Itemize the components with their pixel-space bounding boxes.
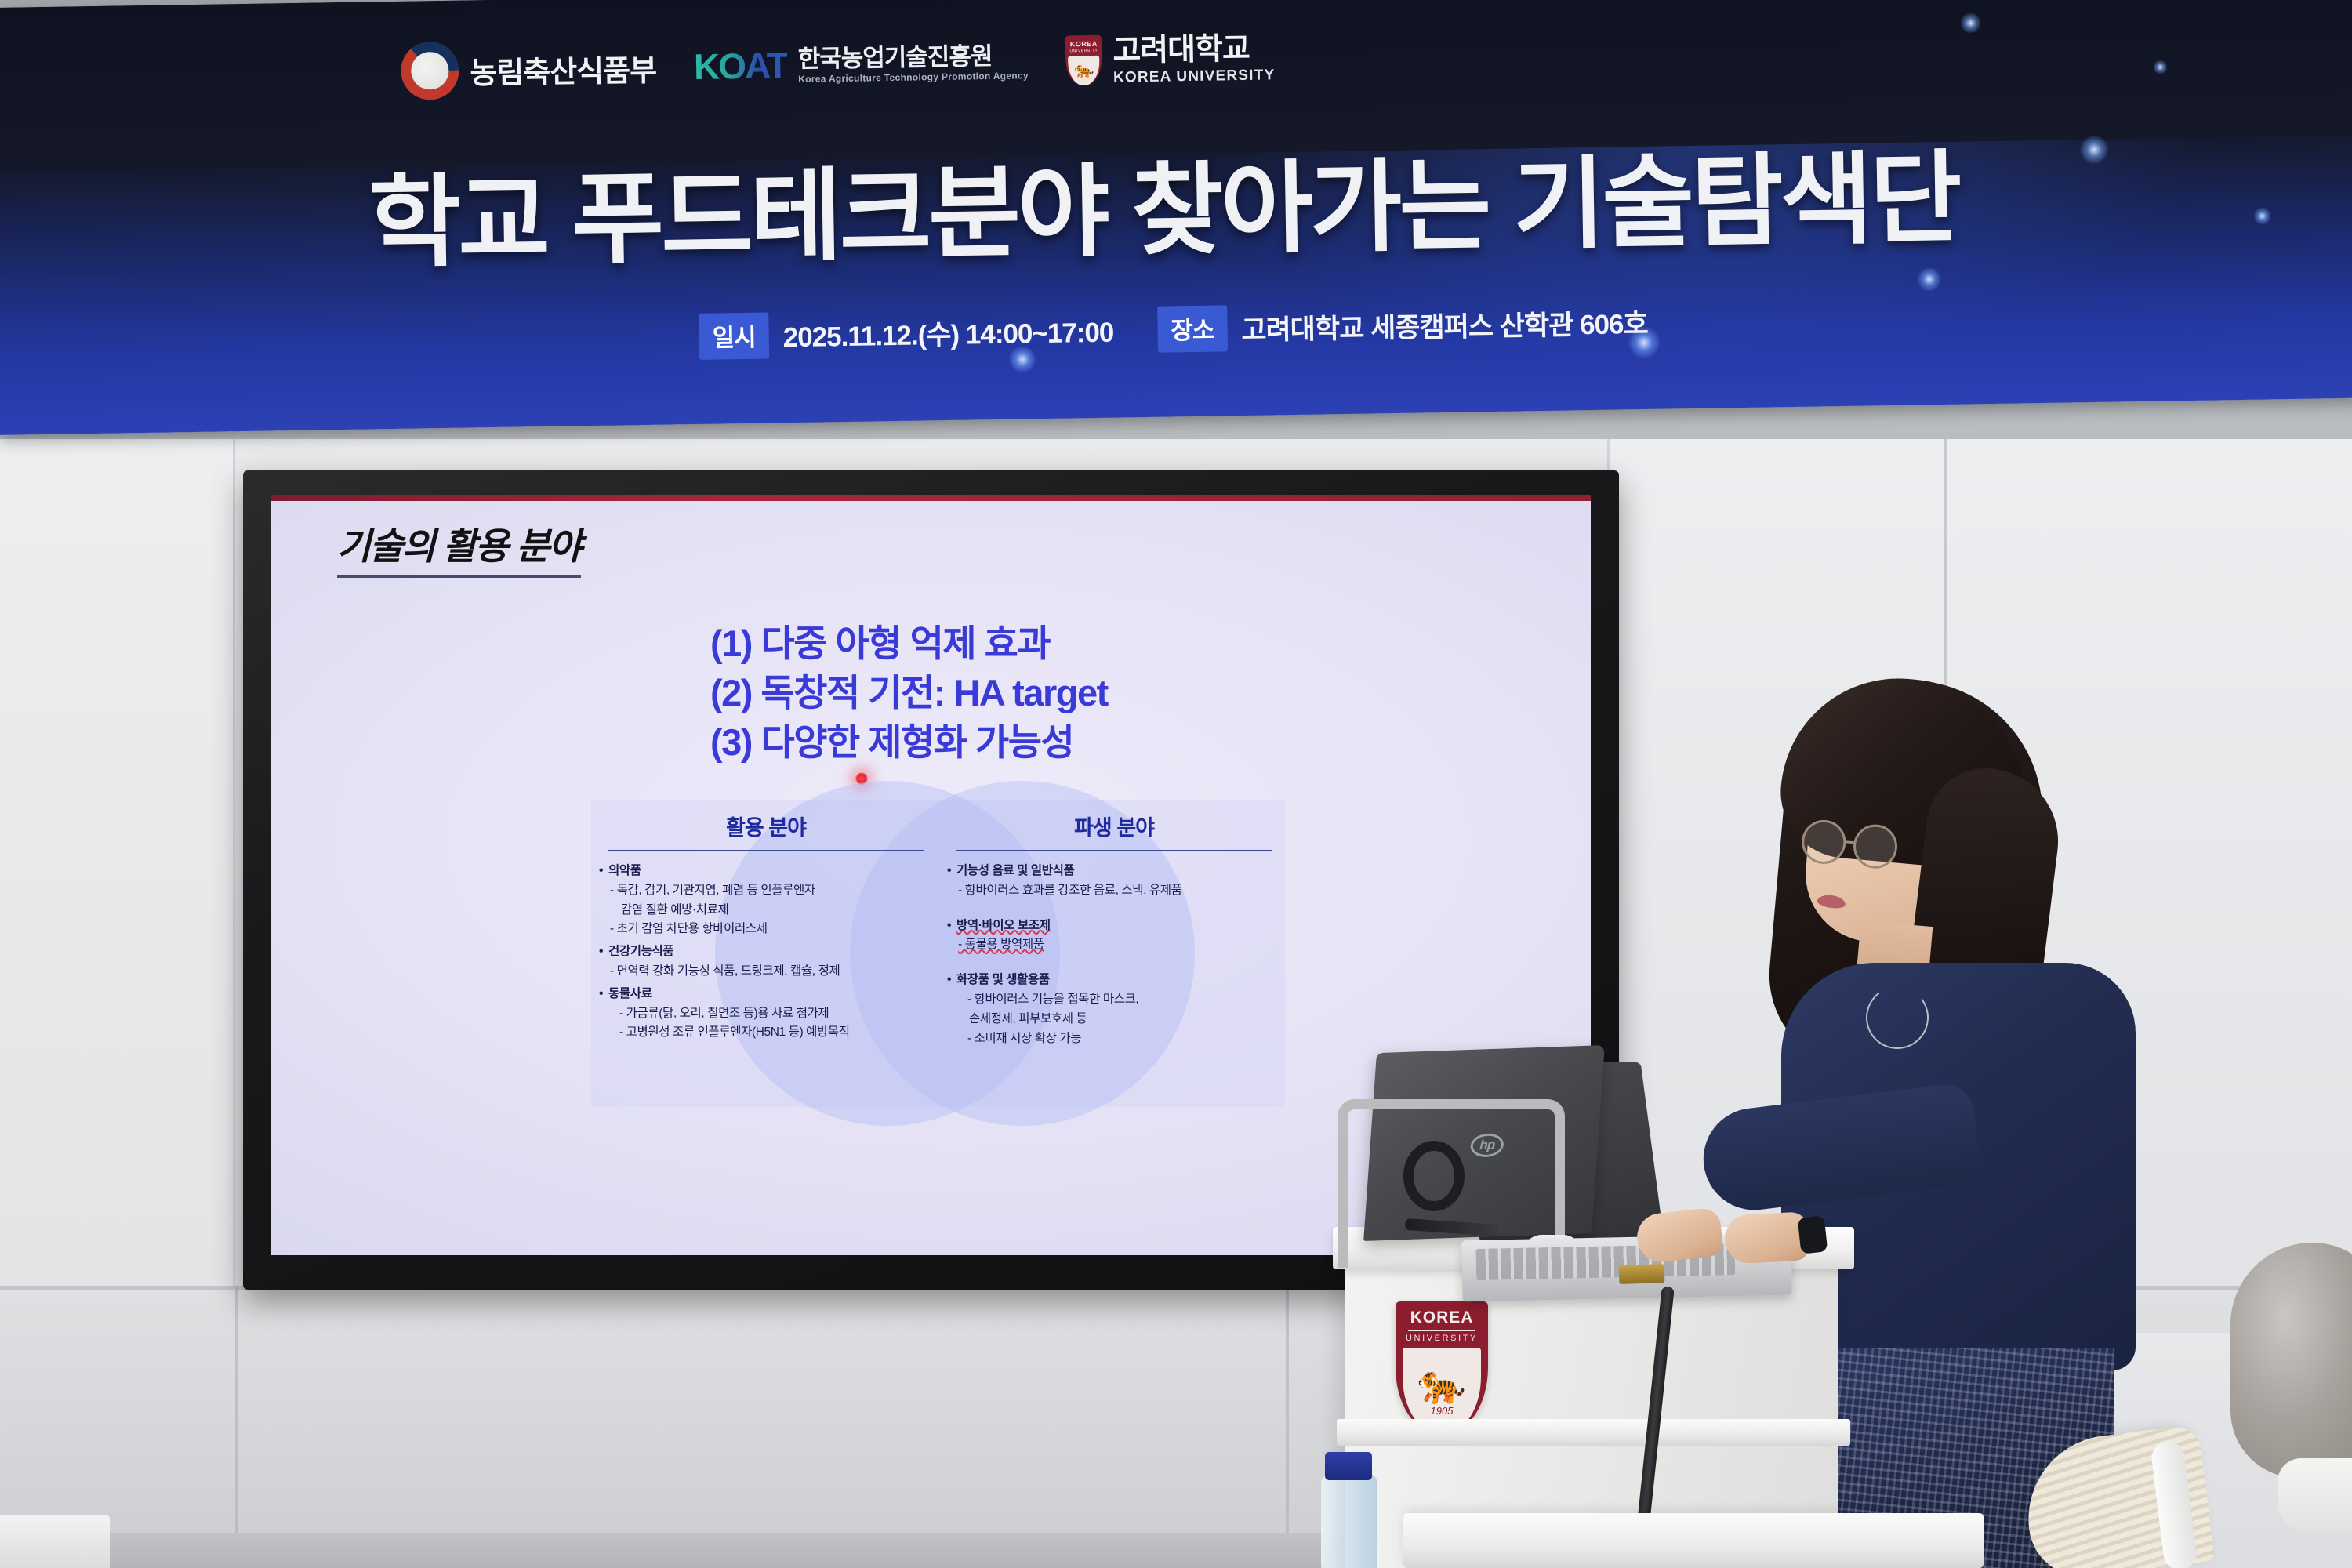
list-item: - 항바이러스 기능을 접목한 마스크, (946, 990, 1283, 1010)
place-value: 고려대학교 세종캠퍼스 산학관 606호 (1241, 302, 1648, 348)
cable-connector (1619, 1264, 1665, 1284)
ku-shield-top: KOREA (1070, 40, 1098, 49)
wall-panel-left (0, 439, 235, 1286)
venn-column-derivative: 파생 분야 기능성 음료 및 일반식품 - 항바이러스 효과를 강조한 음료, … (946, 811, 1283, 1048)
column-list: 의약품 - 독감, 감기, 기관지염, 폐렴 등 인플루엔자 감염 질환 예방·… (597, 862, 935, 1043)
event-banner: 농림축산식품부 KOAT 한국농업기술진흥원 Korea Agriculture… (0, 0, 2352, 435)
slide-key-points: (1) 다중 아형 억제 효과 (2) 독창적 기전: HA target (3… (710, 619, 1108, 768)
list-item: 동물사료 (597, 985, 935, 1004)
column-rule (956, 850, 1272, 851)
list-spacer (946, 955, 1283, 967)
foreground-table (1403, 1513, 1984, 1568)
logo-ku-english: KOREA UNIVERSITY (1113, 67, 1276, 85)
audience-member-head (2230, 1243, 2352, 1478)
water-bottle[interactable] (1321, 1474, 1377, 1568)
column-heading: 활용 분야 (597, 811, 935, 841)
bottle-cap[interactable] (1325, 1452, 1372, 1480)
koat-wordmark: KOAT (694, 44, 788, 88)
wrist-band (1798, 1215, 1828, 1254)
tiger-icon: 🐅 (1417, 1364, 1466, 1403)
tiger-icon: 🐅 (1074, 63, 1094, 78)
left-foreground-desk (0, 1515, 110, 1568)
column-heading: 파생 분야 (946, 811, 1283, 841)
emblem-sub-label: UNIVERSITY (1406, 1334, 1478, 1343)
headset-icon (1403, 1141, 1465, 1211)
column-list: 기능성 음료 및 일반식품 - 항바이러스 효과를 강조한 음료, 스낵, 유제… (946, 862, 1283, 1048)
conference-room-photo: 농림축산식품부 KOAT 한국농업기술진흥원 Korea Agriculture… (0, 0, 2352, 1568)
list-item: - 면역력 강화 기능성 식품, 드링크제, 캡슐, 정제 (597, 962, 935, 982)
logo-koat-english: Korea Agriculture Technology Promotion A… (798, 71, 1029, 84)
venn-diagram: 활용 분야 의약품 - 독감, 감기, 기관지염, 폐렴 등 인플루엔자 감염 … (591, 800, 1285, 1107)
logo-koat: KOAT 한국농업기술진흥원 Korea Agriculture Technol… (694, 40, 1029, 88)
koat-text: 한국농업기술진흥원 Korea Agriculture Technology P… (798, 43, 1029, 84)
list-item: 기능성 음료 및 일반식품 (946, 862, 1283, 881)
banner-info-row: 일시 2025.11.12.(수) 14:00~17:00 장소 고려대학교 세… (0, 288, 2350, 371)
ku-text: 고려대학교 KOREA UNIVERSITY (1112, 33, 1275, 85)
logo-korea-university: KOREA UNIVERSITY 🐅 고려대학교 KOREA UNIVERSIT… (1065, 32, 1275, 85)
list-item: 방역·바이오 보조제 (946, 916, 1283, 936)
sparkle-icon (1918, 267, 1941, 291)
ku-shield-icon: KOREA UNIVERSITY 🐅 (1065, 35, 1102, 86)
date-value: 2025.11.12.(수) 14:00~17:00 (782, 310, 1113, 356)
place-chip-label: 장소 (1157, 305, 1228, 352)
lower-wall-seam (235, 1286, 238, 1568)
list-item: 건강기능식품 (597, 942, 935, 962)
list-item: 화장품 및 생활용품 (946, 971, 1283, 990)
list-spacer (946, 901, 1283, 913)
ku-shield-body: 🐅 (1069, 56, 1101, 86)
emblem-year: 1905 (1431, 1405, 1454, 1417)
list-item: - 가금류(닭, 오리, 칠면조 등)용 사료 첨가제 (597, 1004, 935, 1024)
ku-shield-sub: UNIVERSITY (1069, 49, 1098, 54)
slide-point: (2) 독창적 기전: HA target (710, 669, 1108, 718)
slide-point: (1) 다중 아형 억제 효과 (710, 619, 1108, 669)
list-item: - 고병원성 조류 인플루엔자(H5N1 등) 예방목적 (597, 1023, 935, 1043)
logo-mafra: 농림축산식품부 (401, 38, 657, 100)
logo-koat-label: 한국농업기술진흥원 (798, 43, 1029, 71)
taegeuk-icon (401, 42, 459, 100)
emblem-rule (1408, 1330, 1475, 1331)
list-item: - 초기 감염 차단용 항바이러스제 (597, 920, 935, 939)
list-item: 의약품 (597, 862, 935, 881)
column-rule (608, 850, 924, 851)
date-chip-label: 일시 (699, 312, 769, 359)
emblem-top-label: KOREA (1410, 1308, 1474, 1327)
glasses-lens-right (1852, 822, 1900, 870)
venn-column-application: 활용 분야 의약품 - 독감, 감기, 기관지염, 폐렴 등 인플루엔자 감염 … (597, 811, 935, 1043)
presenter-hand-right (1723, 1211, 1810, 1265)
podium-korea-university-emblem: KOREA UNIVERSITY 🐅 1905 (1396, 1301, 1488, 1433)
lower-wall-seam (1286, 1286, 1289, 1568)
slide-accent-bar (271, 495, 1591, 501)
list-item: - 항바이러스 효과를 강조한 음료, 스낵, 유제품 (946, 881, 1283, 901)
slide-point: (3) 다양한 제형화 가능성 (710, 718, 1108, 768)
list-item: - 소비재 시장 확장 가능 (946, 1029, 1283, 1049)
slide-title: 기술의 활용 분야 (337, 516, 581, 578)
face-mask-icon (2278, 1458, 2352, 1533)
logo-ku-label: 고려대학교 (1112, 33, 1275, 66)
presenter-arm (1697, 1081, 1982, 1216)
banner-info-place: 장소 고려대학교 세종캠퍼스 산학관 606호 (1157, 299, 1648, 353)
glasses-lens-left (1800, 818, 1848, 866)
list-item: 손세정제, 피부보호제 등 (946, 1010, 1283, 1029)
logo-mafra-label: 농림축산식품부 (470, 45, 657, 92)
podium-shelf (1337, 1419, 1850, 1446)
list-item: - 동물용 방역제품 (946, 935, 1283, 955)
banner-info-date: 일시 2025.11.12.(수) 14:00~17:00 (699, 307, 1114, 360)
list-item: - 독감, 감기, 기관지염, 폐렴 등 인플루엔자 (597, 881, 935, 901)
list-item: 감염 질환 예방·치료제 (597, 901, 935, 920)
